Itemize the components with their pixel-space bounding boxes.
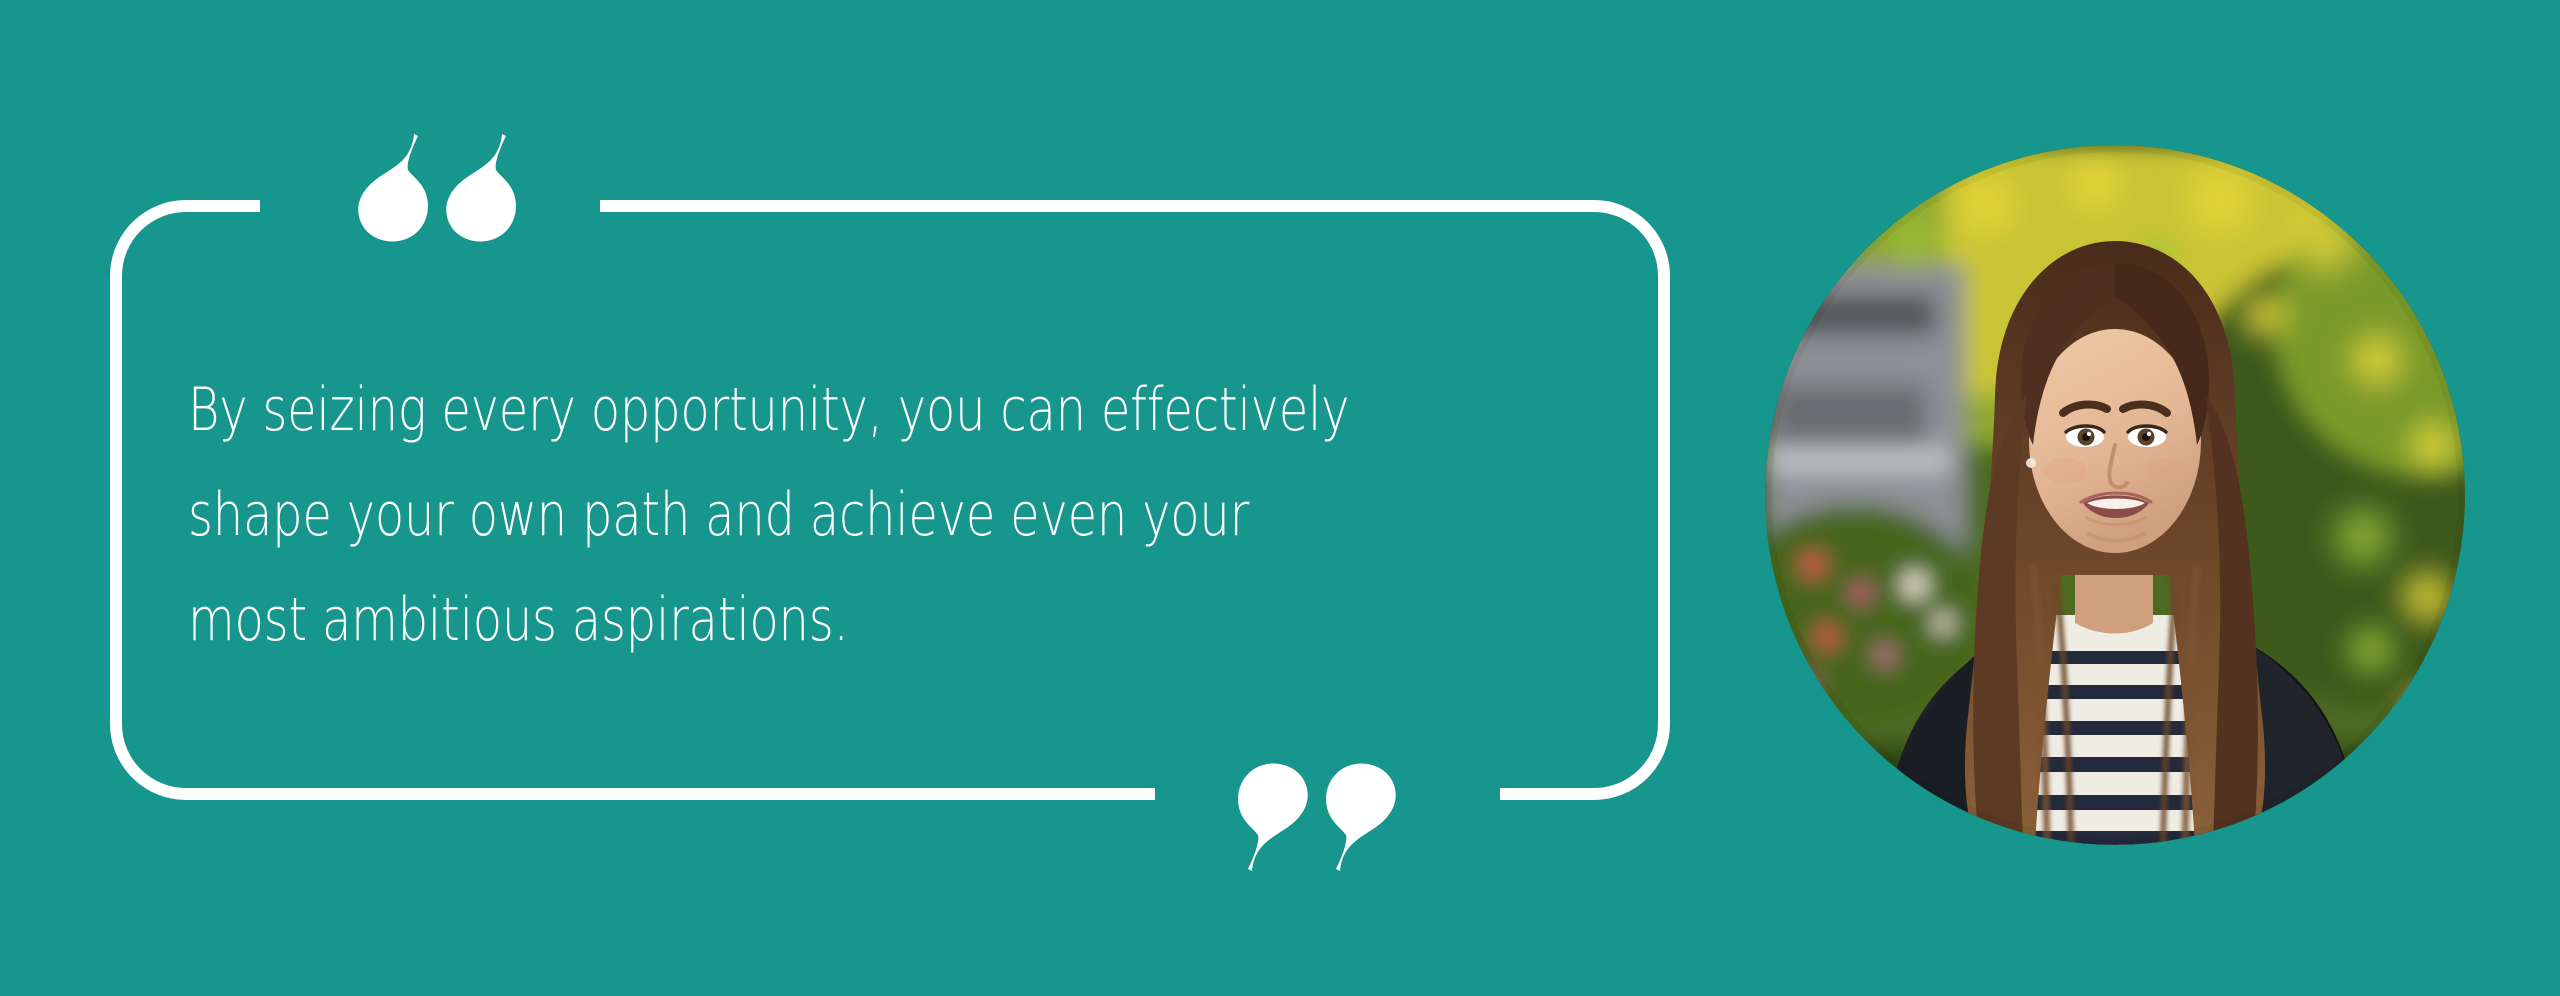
close-double-quote-icon bbox=[1232, 760, 1402, 875]
portrait-photo bbox=[1765, 145, 2465, 845]
quote-teardrop-right bbox=[1238, 763, 1308, 871]
portrait-avatar bbox=[1765, 145, 2465, 845]
quote-line-3: most ambitious aspirations. bbox=[188, 568, 1324, 673]
open-double-quote-icon bbox=[352, 130, 522, 245]
quote-text-block: By seizing every opportunity, you can ef… bbox=[188, 358, 1608, 673]
quote-teardrop-left bbox=[1326, 763, 1396, 871]
frame-bottom-left-edge bbox=[116, 724, 1155, 794]
testimonial-canvas: By seizing every opportunity, you can ef… bbox=[0, 0, 2560, 996]
frame-bottom-right-edge bbox=[1500, 724, 1664, 794]
quote-teardrop-left bbox=[358, 134, 428, 242]
quote-line-1: By seizing every opportunity, you can ef… bbox=[188, 358, 1324, 463]
quote-teardrop-right bbox=[446, 134, 516, 242]
quote-line-2: shape your own path and achieve even you… bbox=[188, 463, 1324, 568]
